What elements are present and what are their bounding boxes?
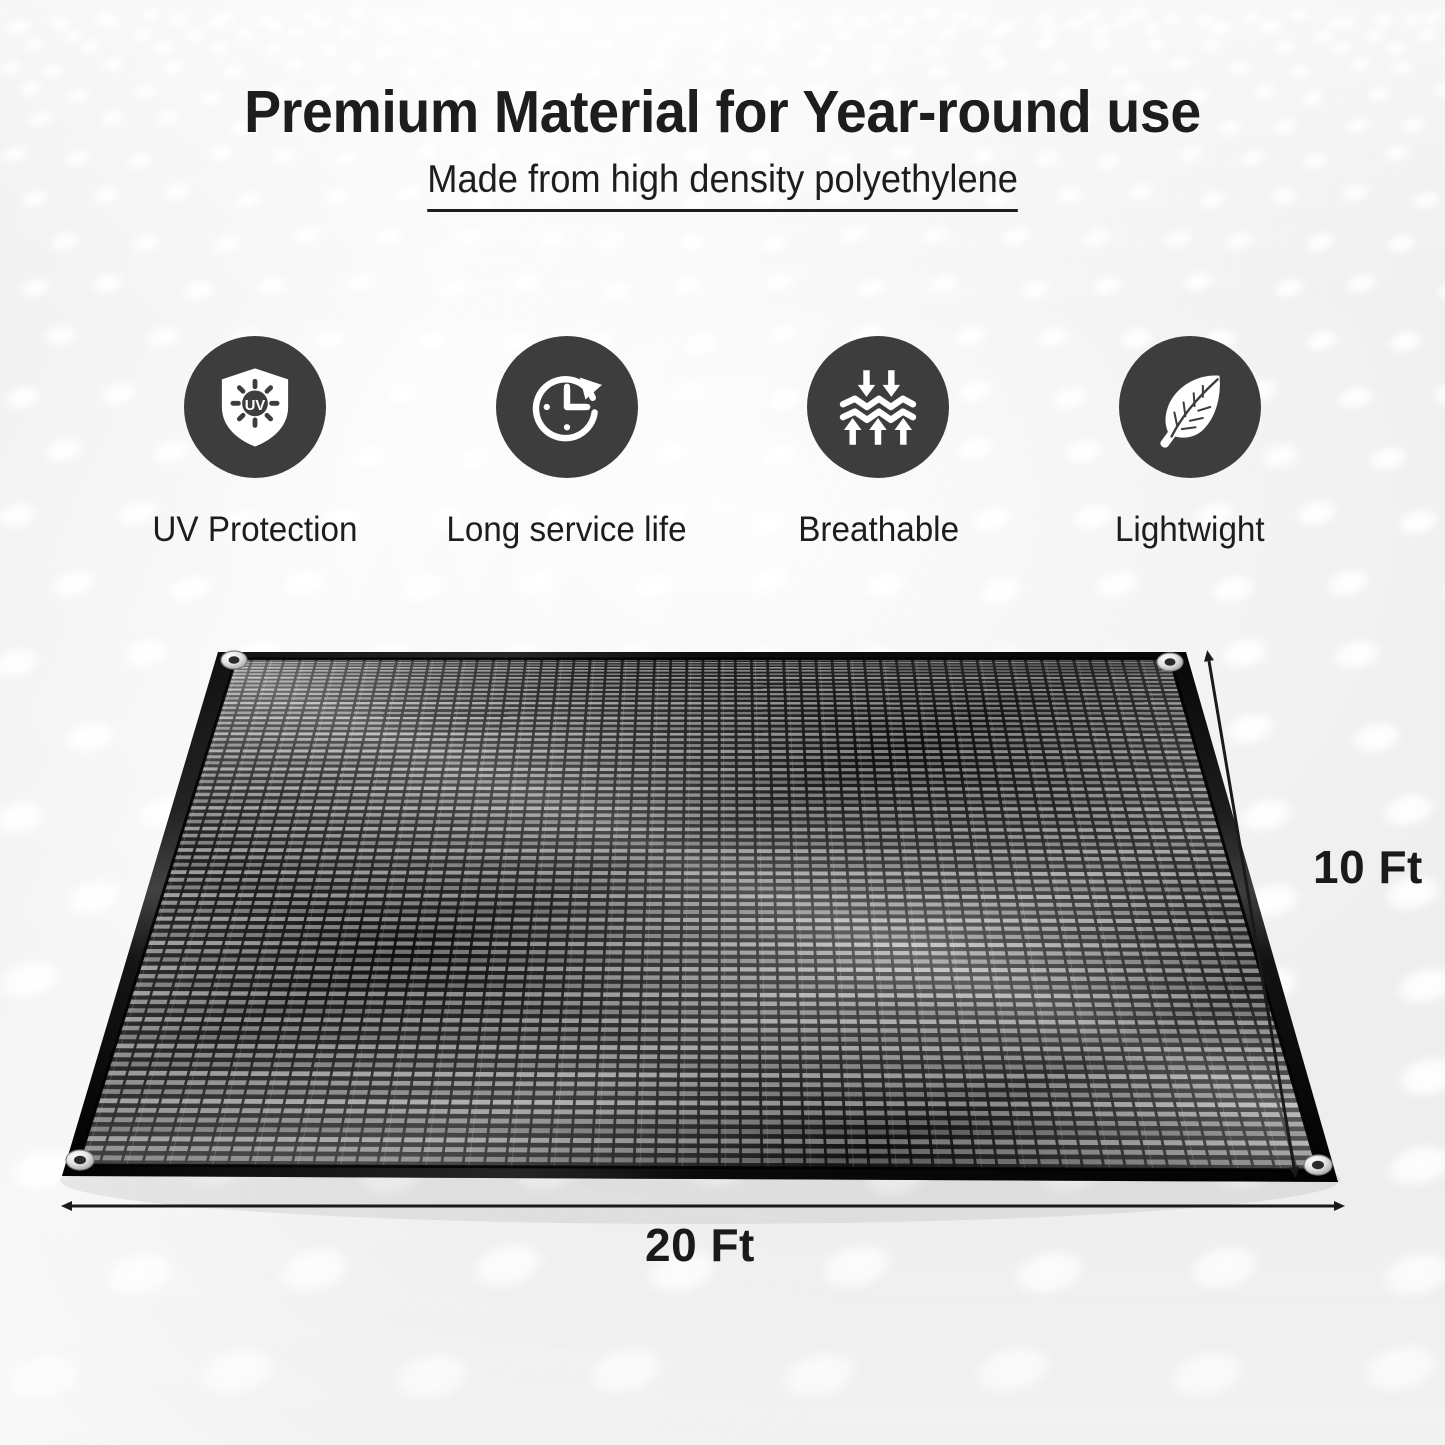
grommet-top-left bbox=[221, 651, 247, 669]
page-subheadline-wrap: Made from high density polyethylene bbox=[0, 158, 1445, 212]
feature-label-lightweight: Lightwight bbox=[1115, 510, 1265, 550]
page-subheadline: Made from high density polyethylene bbox=[427, 158, 1018, 212]
feature-item-breathable: Breathable bbox=[753, 336, 1003, 550]
grommet-bottom-right bbox=[1304, 1155, 1332, 1175]
tarp-ground-shadow bbox=[60, 1136, 1340, 1224]
uv-shield-icon: UV bbox=[209, 361, 301, 453]
feather-leaf-icon bbox=[1144, 361, 1236, 453]
dimension-label-height: 10 Ft bbox=[1313, 840, 1423, 894]
feature-badge-uv: UV bbox=[184, 336, 326, 478]
feature-item-long-service-life: Long service life bbox=[442, 336, 692, 550]
feature-badge-feather bbox=[1119, 336, 1261, 478]
feature-label-breathable: Breathable bbox=[798, 510, 959, 550]
tarp-binding-sheen bbox=[62, 652, 1338, 1182]
grommet-bottom-left bbox=[66, 1150, 94, 1170]
feature-badge-clock bbox=[496, 336, 638, 478]
feature-label-uv: UV Protection bbox=[152, 510, 357, 550]
feature-list: UV UV Protection bbox=[130, 336, 1315, 550]
svg-text:UV: UV bbox=[245, 398, 266, 414]
feature-badge-breathable bbox=[807, 336, 949, 478]
product-infographic-page: Premium Material for Year-round use Made… bbox=[0, 0, 1445, 1445]
feature-item-uv-protection: UV UV Protection bbox=[130, 336, 380, 550]
clock-rotate-icon bbox=[521, 361, 613, 453]
feature-item-lightweight: Lightwight bbox=[1065, 336, 1315, 550]
tarp-mesh-field bbox=[78, 659, 1324, 1170]
tarp-mesh-edge bbox=[78, 659, 1318, 1170]
feature-label-long-service-life: Long service life bbox=[447, 510, 687, 550]
page-headline: Premium Material for Year-round use bbox=[43, 78, 1401, 146]
dimension-arrow-height bbox=[1209, 661, 1294, 1167]
grommet-top-right bbox=[1157, 653, 1183, 671]
tarp-grommets bbox=[66, 651, 1332, 1175]
breathable-waves-icon bbox=[832, 361, 924, 453]
dimension-label-width: 20 Ft bbox=[645, 1218, 755, 1272]
tarp-binding-border bbox=[62, 652, 1338, 1182]
